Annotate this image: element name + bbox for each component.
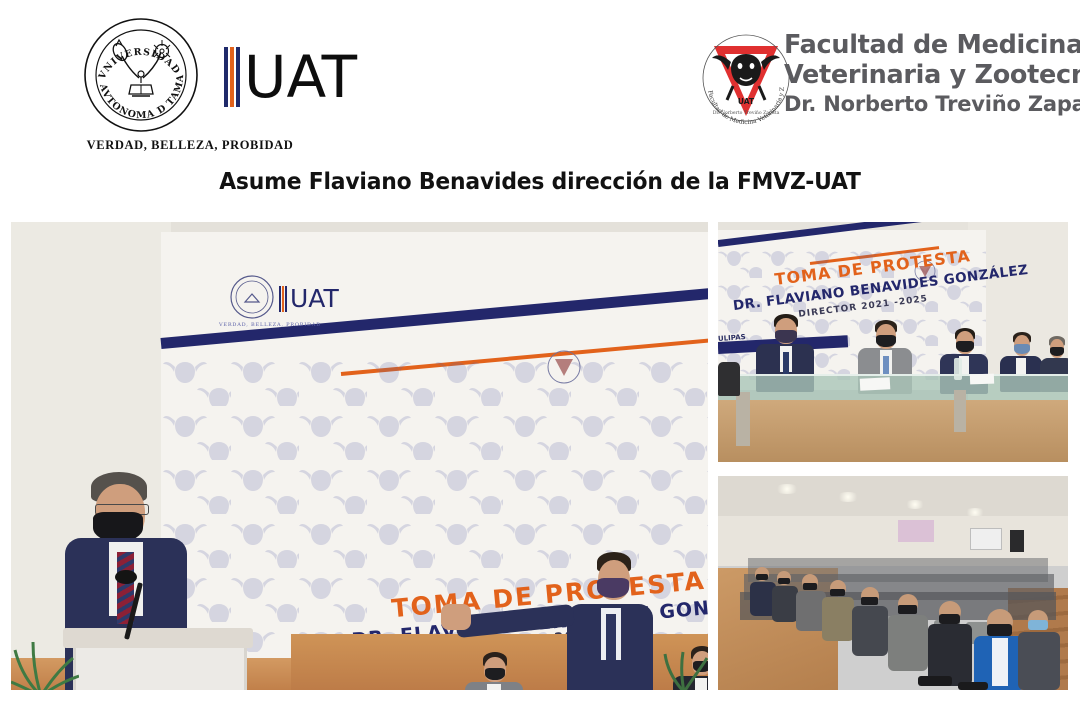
document: [860, 377, 891, 391]
tie: [883, 356, 889, 376]
panel-photo-scene: TOMA DE PROTESTA DR. FLAVIANO BENAVIDES …: [718, 222, 1068, 462]
face-mask: [956, 341, 974, 352]
uat-wordmark: UAT: [224, 46, 357, 108]
face-mask: [485, 668, 505, 680]
water-bottle: [954, 358, 962, 380]
svg-text:Dr. Norberto Treviño Zapata: Dr. Norberto Treviño Zapata: [713, 109, 780, 116]
ceiling-light: [836, 492, 860, 502]
news-graphic-page: VNIVERSIDAD AVTONOMA D TAMAVLIPAS: [0, 0, 1080, 717]
ceiling-light: [774, 484, 800, 494]
fmvz-logo-text: Facultad de Medicina Veterinaria y Zoote…: [784, 30, 1080, 118]
panel-photo-officials-at-table: TOMA DE PROTESTA DR. FLAVIANO BENAVIDES …: [718, 222, 1068, 462]
uat-logo: VNIVERSIDAD AVTONOMA D TAMAVLIPAS: [72, 14, 372, 156]
fmvz-line-1: Facultad de Medicina: [784, 30, 1080, 60]
main-photo-scene: UAT VERDAD, BELLEZA, PROBIDAD TOMA DE PR…: [11, 222, 708, 690]
main-photo-speaker-at-podium: UAT VERDAD, BELLEZA, PROBIDAD TOMA DE PR…: [11, 222, 708, 690]
fmvz-logo: Facultad de Medicina Veterinaria y Zoote…: [700, 26, 1050, 144]
audience-rows: [718, 536, 1068, 690]
svg-text:UAT: UAT: [738, 97, 755, 106]
backdrop-uat-motto: VERDAD, BELLEZA, PROBIDAD: [219, 322, 321, 328]
backdrop-uat-wordmark: UAT: [279, 284, 339, 313]
backdrop-uat-seal-icon: [229, 274, 275, 320]
uat-bars-icon: [224, 47, 241, 107]
header: VNIVERSIDAD AVTONOMA D TAMAVLIPAS: [0, 0, 1080, 160]
podium-top: [63, 628, 253, 648]
table-leg: [736, 392, 750, 446]
raised-hand: [441, 604, 471, 630]
face-mask: [1050, 347, 1064, 356]
oath-taker: [551, 552, 669, 690]
tie: [783, 352, 789, 374]
face-mask: [775, 330, 797, 343]
audience-photo-auditorium: [718, 476, 1068, 690]
uat-motto: VERDAD, BELLEZA, PROBIDAD: [70, 138, 310, 153]
tie: [606, 614, 616, 660]
chair: [718, 362, 740, 396]
fmvz-line-3: Dr. Norberto Treviño Zapata: [784, 90, 1080, 118]
page-title: Asume Flaviano Benavides dirección de la…: [38, 167, 1042, 195]
fmvz-line-2: Veterinaria y Zootecnia: [784, 60, 1080, 90]
plant-left: [11, 620, 79, 690]
floor: [718, 400, 1068, 462]
glass-table: [718, 374, 1068, 400]
table-leg: [954, 390, 966, 432]
seated-official: [463, 652, 525, 690]
backdrop-fmvz-icon: [547, 350, 581, 384]
face-mask: [1014, 344, 1030, 354]
document: [970, 374, 994, 385]
face-mask: [597, 578, 629, 598]
bull-head-icon: Facultad de Medicina Veterinaria y Zoote…: [700, 28, 792, 128]
microphone-head: [115, 570, 137, 584]
shirt: [487, 684, 501, 690]
face-mask: [876, 335, 896, 347]
ceiling-light: [904, 500, 926, 509]
uat-seal-icon: VNIVERSIDAD AVTONOMA D TAMAVLIPAS: [82, 16, 200, 134]
uat-wordmark-text: UAT: [244, 48, 357, 106]
audience-photo-scene: [718, 476, 1068, 690]
plant-right: [659, 624, 708, 690]
